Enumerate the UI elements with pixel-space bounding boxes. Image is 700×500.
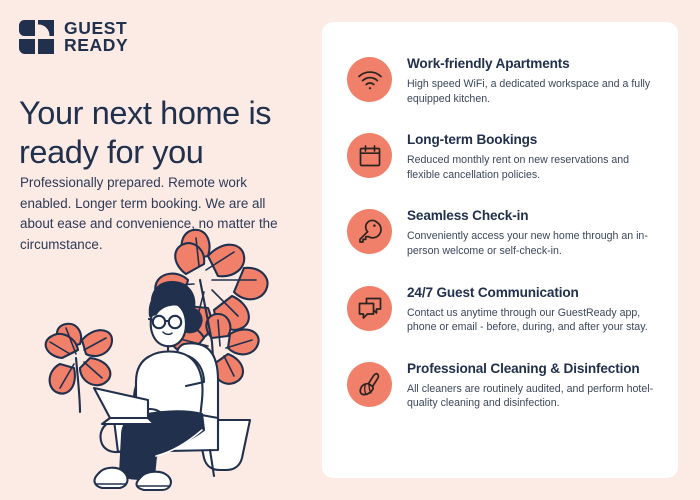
feature-text: 24/7 Guest Communication Contact us anyt… — [407, 284, 657, 335]
feature-item[interactable]: Professional Cleaning & Disinfection All… — [347, 360, 658, 411]
chat-bubbles-icon — [347, 286, 392, 331]
calendar-icon — [347, 133, 392, 178]
feature-description: Reduced monthly rent on new reservations… — [407, 153, 657, 182]
page-title: Your next home is ready for you — [19, 94, 309, 173]
feature-description: Conveniently access your new home throug… — [407, 229, 657, 258]
brand-logo[interactable]: GUEST READY — [18, 19, 128, 55]
feature-description: All cleaners are routinely audited, and … — [407, 382, 657, 411]
hero-column: GUEST READY Your next home is ready for … — [0, 0, 322, 500]
feature-title: Seamless Check-in — [407, 208, 657, 225]
feature-item[interactable]: Seamless Check-in Conveniently access yo… — [347, 207, 658, 258]
feature-text: Professional Cleaning & Disinfection All… — [407, 360, 657, 411]
wifi-icon — [347, 57, 392, 102]
feature-title: Work-friendly Apartments — [407, 56, 657, 73]
key-icon — [347, 209, 392, 254]
feature-text: Work-friendly Apartments High speed WiFi… — [407, 55, 657, 106]
feature-text: Seamless Check-in Conveniently access yo… — [407, 207, 657, 258]
marketing-page: GUEST READY Your next home is ready for … — [0, 0, 700, 500]
feature-text: Long-term Bookings Reduced monthly rent … — [407, 131, 657, 182]
feature-item[interactable]: Long-term Bookings Reduced monthly rent … — [347, 131, 658, 182]
feature-item[interactable]: 24/7 Guest Communication Contact us anyt… — [347, 284, 658, 335]
feature-title: Long-term Bookings — [407, 132, 657, 149]
features-card: Work-friendly Apartments High speed WiFi… — [322, 22, 678, 478]
guestready-quadrant-logo-icon — [18, 19, 55, 55]
feature-title: 24/7 Guest Communication — [407, 285, 657, 302]
feature-item[interactable]: Work-friendly Apartments High speed WiFi… — [347, 55, 658, 106]
feature-description: Contact us anytime through our GuestRead… — [407, 306, 657, 335]
broom-icon — [347, 362, 392, 407]
brand-wordmark: GUEST READY — [64, 20, 128, 54]
hero-illustration — [36, 222, 321, 492]
person-with-laptop — [94, 282, 204, 490]
brand-name-line-2: READY — [64, 37, 128, 54]
feature-list: Work-friendly Apartments High speed WiFi… — [322, 22, 678, 411]
feature-description: High speed WiFi, a dedicated workspace a… — [407, 77, 657, 106]
feature-title: Professional Cleaning & Disinfection — [407, 361, 657, 378]
